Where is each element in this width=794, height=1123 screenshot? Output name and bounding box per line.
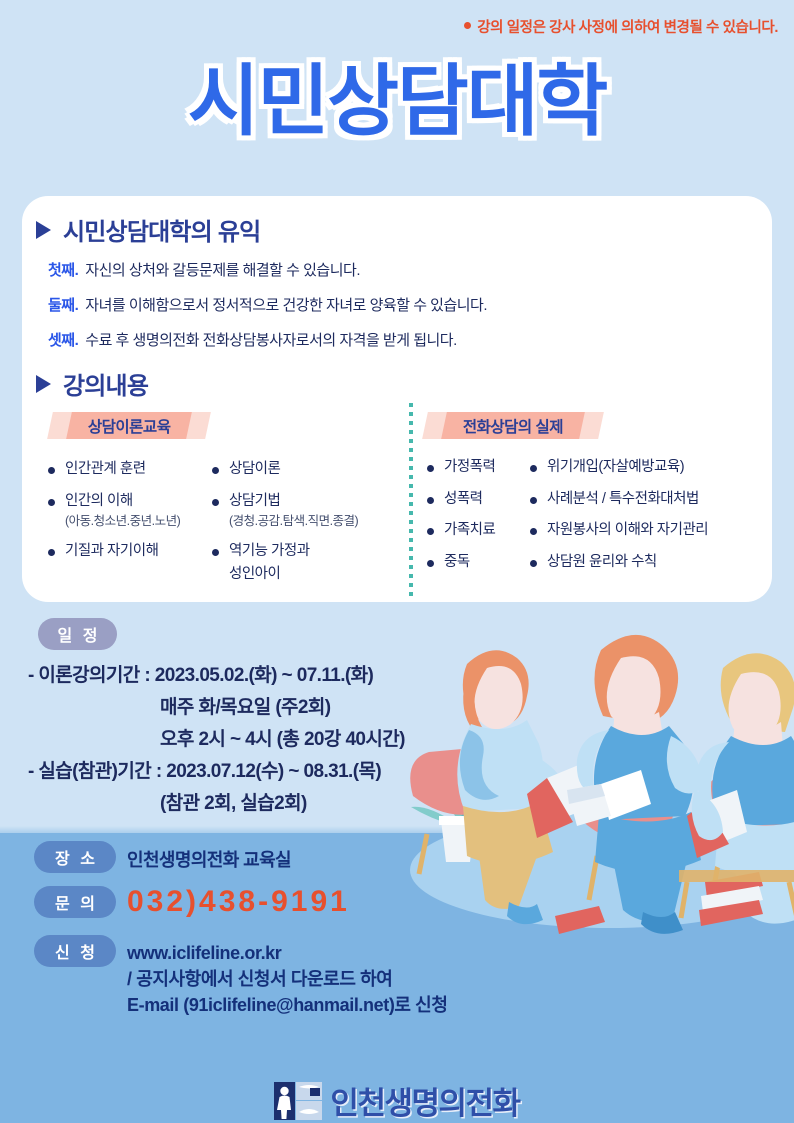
curriculum-right-col2: 위기개입(자살예방교육) 사례분석 / 특수전화대처법 자원봉사의 이해와 자기… bbox=[528, 460, 708, 586]
apply-instructions: www.iclifeline.or.kr / 공지사항에서 신청서 다운로드 하… bbox=[127, 940, 448, 1018]
badge-counseling-theory-label: 상담이론교육 bbox=[88, 415, 171, 437]
benefit-text-2: 자녀를 이해함으로서 정서적으로 건강한 자녀로 양육할 수 있습니다. bbox=[85, 297, 487, 314]
curriculum-right-col1: 가정폭력 성폭력 가족치료 중독 bbox=[425, 460, 495, 586]
list-item: 인간의 이해 bbox=[46, 494, 180, 509]
list-item: 성폭력 bbox=[425, 492, 495, 507]
schedule-badge: 일 정 bbox=[38, 618, 117, 650]
schedule-change-notice: 강의 일정은 강사 사정에 의하여 변경될 수 있습니다. bbox=[0, 16, 778, 37]
phone-number[interactable]: 032)438-9191 bbox=[127, 885, 350, 919]
schedule-badge-label: 일 정 bbox=[55, 622, 101, 646]
triangle-bullet-icon bbox=[36, 221, 51, 239]
schedule-line-5: (참관 2회, 실습2회) bbox=[160, 788, 307, 815]
poster-root: 강의 일정은 강사 사정에 의하여 변경될 수 있습니다. 시민상담대학 시민상… bbox=[0, 0, 794, 1123]
list-subnote: (경청.공감.탐색.직면.종결) bbox=[210, 515, 358, 528]
list-item: 인간관계 훈련 bbox=[46, 462, 180, 477]
list-item-continuation: 성인아이 bbox=[210, 567, 358, 582]
badge-phone-counseling: 전화상담의 실제 bbox=[440, 412, 586, 439]
badge-phone-counseling-label: 전화상담의 실제 bbox=[463, 415, 563, 437]
curriculum-heading: 강의내용 bbox=[36, 366, 148, 401]
benefit-item-1: 첫째.자신의 상처와 갈등문제를 해결할 수 있습니다. bbox=[48, 259, 360, 280]
list-item: 가족치료 bbox=[425, 523, 495, 538]
benefits-heading: 시민상담대학의 유익 bbox=[36, 212, 260, 247]
apply-step: / 공지사항에서 신청서 다운로드 하여 bbox=[127, 966, 448, 992]
benefit-item-2: 둘째.자녀를 이해함으로서 정서적으로 건강한 자녀로 양육할 수 있습니다. bbox=[48, 294, 487, 315]
place-badge: 장 소 bbox=[34, 841, 116, 873]
notice-text: 강의 일정은 강사 사정에 의하여 변경될 수 있습니다. bbox=[477, 20, 778, 36]
place-value: 인천생명의전화 교육실 bbox=[127, 846, 291, 872]
lifeline-logo-icon bbox=[274, 1082, 322, 1120]
page-title: 시민상담대학 bbox=[0, 62, 794, 140]
benefit-label-1: 첫째. bbox=[48, 262, 78, 279]
schedule-line-4: - 실습(참관)기간 : 2023.07.12(수) ~ 08.31.(목) bbox=[28, 756, 381, 783]
column-divider bbox=[409, 403, 413, 598]
place-badge-label: 장 소 bbox=[52, 845, 98, 869]
benefit-item-3: 셋째.수료 후 생명의전화 전화상담봉사자로서의 자격을 받게 됩니다. bbox=[48, 329, 457, 350]
list-item: 사례분석 / 특수전화대처법 bbox=[528, 492, 708, 507]
list-item: 자원봉사의 이해와 자기관리 bbox=[528, 523, 708, 538]
benefit-label-3: 셋째. bbox=[48, 332, 78, 349]
apply-website[interactable]: www.iclifeline.or.kr bbox=[127, 940, 448, 966]
contact-badge: 문 의 bbox=[34, 886, 116, 918]
footer-org-name: 인천생명의전화 bbox=[330, 1078, 519, 1123]
list-item: 가정폭력 bbox=[425, 460, 495, 475]
triangle-bullet-icon bbox=[36, 375, 51, 393]
schedule-line-3: 오후 2시 ~ 4시 (총 20강 40시간) bbox=[160, 724, 405, 751]
list-item: 기질과 자기이해 bbox=[46, 544, 180, 559]
schedule-line-2: 매주 화/목요일 (주2회) bbox=[160, 692, 331, 719]
benefits-heading-label: 시민상담대학의 유익 bbox=[63, 219, 260, 246]
badge-counseling-theory: 상담이론교육 bbox=[65, 412, 193, 439]
benefit-label-2: 둘째. bbox=[48, 297, 78, 314]
curriculum-heading-label: 강의내용 bbox=[63, 373, 148, 400]
benefit-text-1: 자신의 상처와 갈등문제를 해결할 수 있습니다. bbox=[85, 262, 360, 279]
list-item: 위기개입(자살예방교육) bbox=[528, 460, 708, 475]
list-item: 상담이론 bbox=[210, 462, 358, 477]
apply-badge: 신 청 bbox=[34, 935, 116, 967]
curriculum-left-col2: 상담이론 상담기법 (경청.공감.탐색.직면.종결) 역기능 가정과 성인아이 bbox=[210, 462, 358, 598]
curriculum-left-col1: 인간관계 훈련 인간의 이해 (아동.청소년.중년.노년) 기질과 자기이해 bbox=[46, 462, 180, 575]
footer-logo: 인천생명의전화 bbox=[0, 1078, 794, 1123]
people-reading-illustration bbox=[405, 620, 794, 940]
benefit-text-3: 수료 후 생명의전화 전화상담봉사자로서의 자격을 받게 됩니다. bbox=[85, 332, 456, 349]
list-item: 상담원 윤리와 수칙 bbox=[528, 555, 708, 570]
list-subnote: (아동.청소년.중년.노년) bbox=[46, 515, 180, 528]
contact-badge-label: 문 의 bbox=[52, 890, 98, 914]
list-item: 역기능 가정과 bbox=[210, 544, 358, 559]
list-item: 상담기법 bbox=[210, 494, 358, 509]
list-item: 중독 bbox=[425, 555, 495, 570]
apply-badge-label: 신 청 bbox=[52, 939, 98, 963]
apply-email[interactable]: E-mail (91iclifeline@hanmail.net)로 신청 bbox=[127, 992, 448, 1018]
schedule-line-1: - 이론강의기간 : 2023.05.02.(화) ~ 07.11.(화) bbox=[28, 660, 373, 687]
notice-bullet-icon bbox=[464, 22, 471, 29]
